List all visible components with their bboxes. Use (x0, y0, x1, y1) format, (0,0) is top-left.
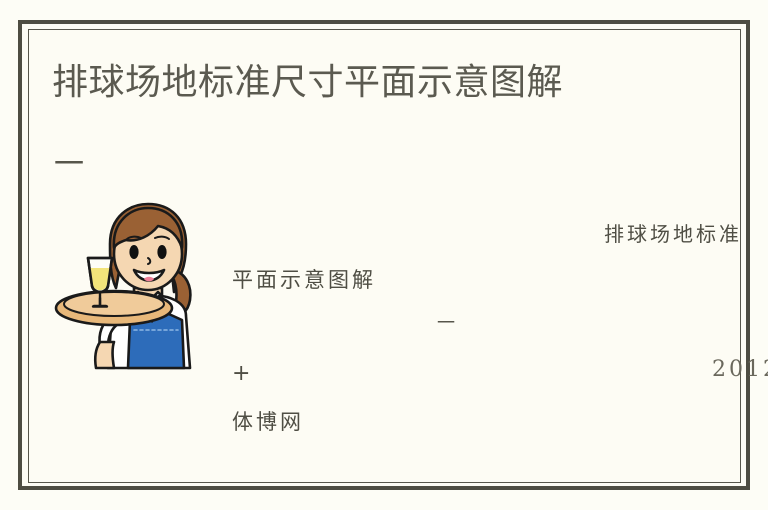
waitress-illustration (52, 196, 212, 374)
site-name-text: 体博网 (232, 410, 304, 434)
title-underline-dash: 一 (54, 150, 84, 180)
poster-canvas: 排球场地标准尺寸平面示意图解 一 (0, 0, 768, 510)
plus-symbol: + (232, 363, 250, 385)
caption-separator-dash: 一 (437, 314, 458, 334)
page-title: 排球场地标准尺寸平面示意图解 (52, 62, 563, 104)
left-forearm (95, 342, 114, 368)
year-label: 2012 (712, 358, 768, 382)
right-edge-handwritten-text: 排球场地标准 (604, 222, 742, 246)
tray-inner (64, 292, 164, 316)
eye-right (157, 245, 166, 259)
caption-text: 平面示意图解 (232, 268, 376, 292)
eye-left (129, 245, 138, 259)
